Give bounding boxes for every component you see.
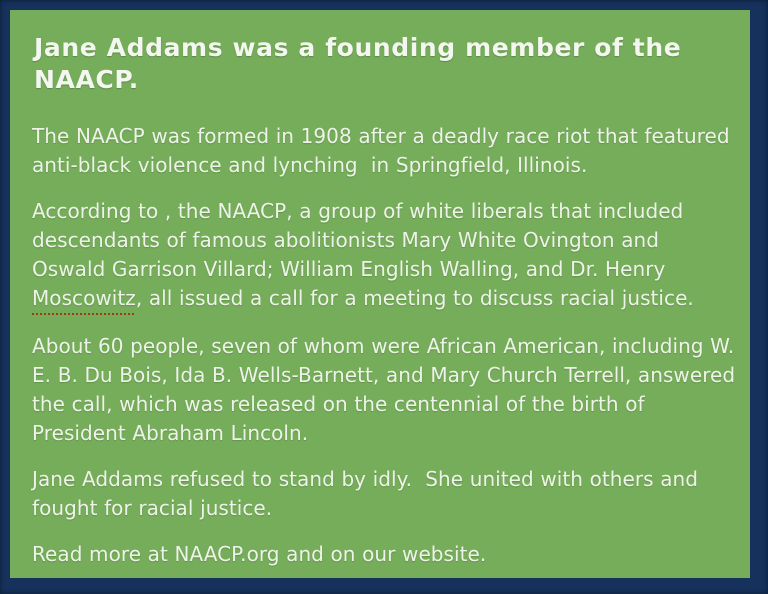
paragraph-founders-trailing-text: , all issued a call for a meeting to dis… <box>136 286 694 310</box>
paragraph-founders-lead-text: According to , the NAACP, a group of whi… <box>32 199 690 281</box>
paragraph-founders: According to , the NAACP, a group of whi… <box>32 197 736 315</box>
paragraph-naacp-formation: The NAACP was formed in 1908 after a dea… <box>32 122 736 180</box>
paragraph-jane-addams-action: Jane Addams refused to stand by idly. Sh… <box>32 465 736 523</box>
body-text-block: The NAACP was formed in 1908 after a dea… <box>32 122 740 569</box>
spellcheck-misspelled-word[interactable]: Moscowitz <box>32 284 136 315</box>
paragraph-read-more: Read more at NAACP.org and on our websit… <box>32 540 736 569</box>
green-content-panel: Jane Addams was a founding member of the… <box>10 10 750 578</box>
slide-canvas: Jane Addams was a founding member of the… <box>0 0 768 594</box>
paragraph-attendees: About 60 people, seven of whom were Afri… <box>32 332 736 448</box>
page-title: Jane Addams was a founding member of the… <box>34 32 740 96</box>
